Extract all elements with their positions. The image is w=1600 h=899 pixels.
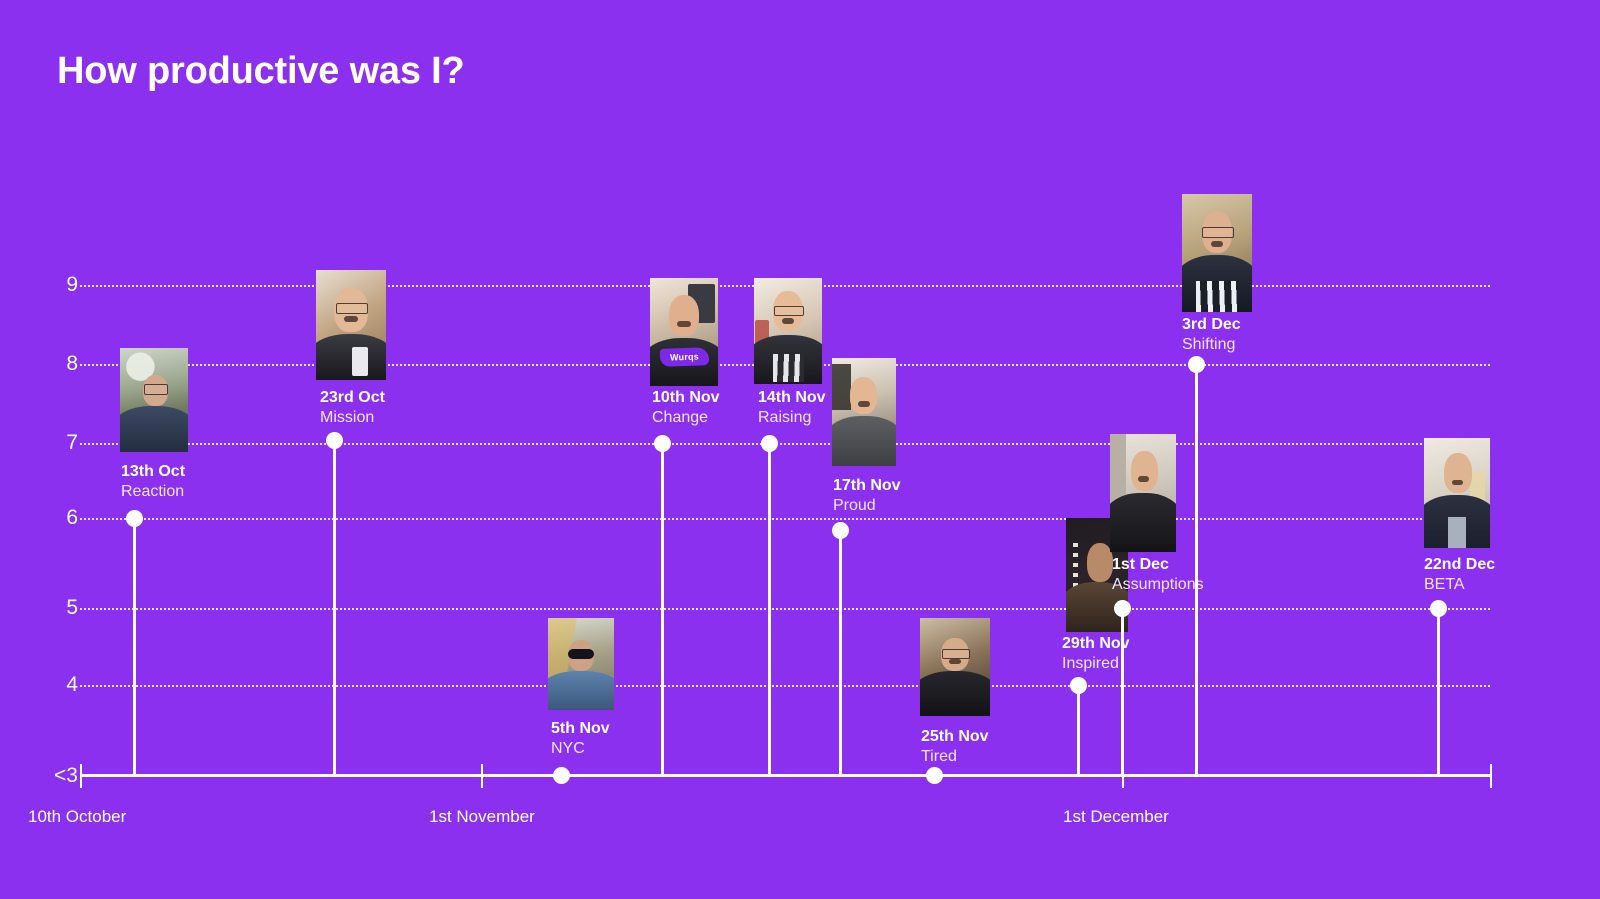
point-caption-3rd-dec: 3rd Dec Shifting [1182,315,1241,354]
stem [839,530,842,776]
point-caption-23rd-oct: 23rd Oct Mission [320,388,385,427]
thumbnail-13th-oct[interactable] [120,348,188,452]
point-caption-25th-nov: 25th Nov Tired [921,727,989,766]
caption-label: NYC [551,739,610,759]
caption-date: 14th Nov [758,388,826,408]
stem [1437,608,1440,776]
caption-label: Mission [320,408,385,428]
dot[interactable] [832,522,849,539]
caption-label: Assumptions [1112,575,1204,595]
point-caption-17th-nov: 17th Nov Proud [833,476,901,515]
caption-date: 23rd Oct [320,388,385,408]
thumbnail-10th-nov[interactable]: Wurqs [650,278,718,386]
point-caption-29th-nov: 29th Nov Inspired [1062,634,1130,673]
x-axis-tick-10th-october [80,764,82,788]
dot[interactable] [654,435,671,452]
dot[interactable] [1188,356,1205,373]
caption-label: Change [652,408,720,428]
dot[interactable] [326,432,343,449]
point-caption-1st-dec: 1st Dec Assumptions [1112,555,1204,594]
x-axis-tick-1st-december [1122,764,1124,788]
ytick-label-7: 7 [44,431,78,455]
thumbnail-25th-nov[interactable] [920,618,990,716]
stem [768,443,771,776]
ytick-label-4: 4 [44,673,78,697]
point-caption-22nd-dec: 22nd Dec BETA [1424,555,1495,594]
stem [1077,685,1080,776]
x-axis-label-1st-november: 1st November [429,807,535,827]
chart-canvas: How productive was I? 9 8 7 6 5 4 <3 [0,0,1600,899]
ytick-label-9: 9 [44,273,78,297]
dot[interactable] [761,435,778,452]
thumbnail-23rd-oct[interactable] [316,270,386,380]
caption-date: 5th Nov [551,719,610,739]
ytick-label-6: 6 [44,506,78,530]
caption-date: 22nd Dec [1424,555,1495,575]
point-caption-13th-oct: 13th Oct Reaction [121,462,185,501]
x-axis-tick-end [1490,764,1492,788]
caption-date: 3rd Dec [1182,315,1241,335]
stem [133,518,136,776]
gridline-7 [80,443,1490,445]
dot[interactable] [1430,600,1447,617]
point-caption-10th-nov: 10th Nov Change [652,388,720,427]
thumbnail-3rd-dec[interactable] [1182,194,1252,312]
thumbnail-17th-nov[interactable] [832,358,896,466]
point-caption-5th-nov: 5th Nov NYC [551,719,610,758]
caption-date: 25th Nov [921,727,989,747]
caption-label: Shifting [1182,335,1241,355]
ytick-label-baseline: <3 [26,764,78,788]
gridline-6 [80,518,1490,520]
caption-date: 1st Dec [1112,555,1204,575]
caption-label: Inspired [1062,654,1130,674]
caption-date: 29th Nov [1062,634,1130,654]
ytick-label-8: 8 [44,352,78,376]
plot-area: 9 8 7 6 5 4 <3 [0,0,1600,899]
dot[interactable] [1070,677,1087,694]
caption-label: Reaction [121,482,185,502]
gridline-5 [80,608,1490,610]
x-axis-label-10th-october: 10th October [28,807,126,827]
x-axis-tick-1st-november [481,764,483,788]
stem [1195,364,1198,776]
point-caption-14th-nov: 14th Nov Raising [758,388,826,427]
wurqs-logo-badge: Wurqs [659,347,709,367]
caption-label: Proud [833,496,901,516]
caption-label: Tired [921,747,989,767]
caption-date: 10th Nov [652,388,720,408]
stem [1121,608,1124,776]
thumbnail-22nd-dec[interactable] [1424,438,1490,548]
gridline-4 [80,685,1490,687]
caption-label: Raising [758,408,826,428]
thumbnail-1st-dec[interactable] [1110,434,1176,552]
caption-label: BETA [1424,575,1495,595]
x-axis-line [80,774,1492,777]
stem [333,440,336,776]
caption-date: 17th Nov [833,476,901,496]
ytick-label-5: 5 [44,596,78,620]
dot[interactable] [1114,600,1131,617]
caption-date: 13th Oct [121,462,185,482]
dot[interactable] [126,510,143,527]
thumbnail-5th-nov[interactable] [548,618,614,710]
x-axis-label-1st-december: 1st December [1063,807,1169,827]
thumbnail-14th-nov[interactable] [754,278,822,384]
stem [661,443,664,776]
